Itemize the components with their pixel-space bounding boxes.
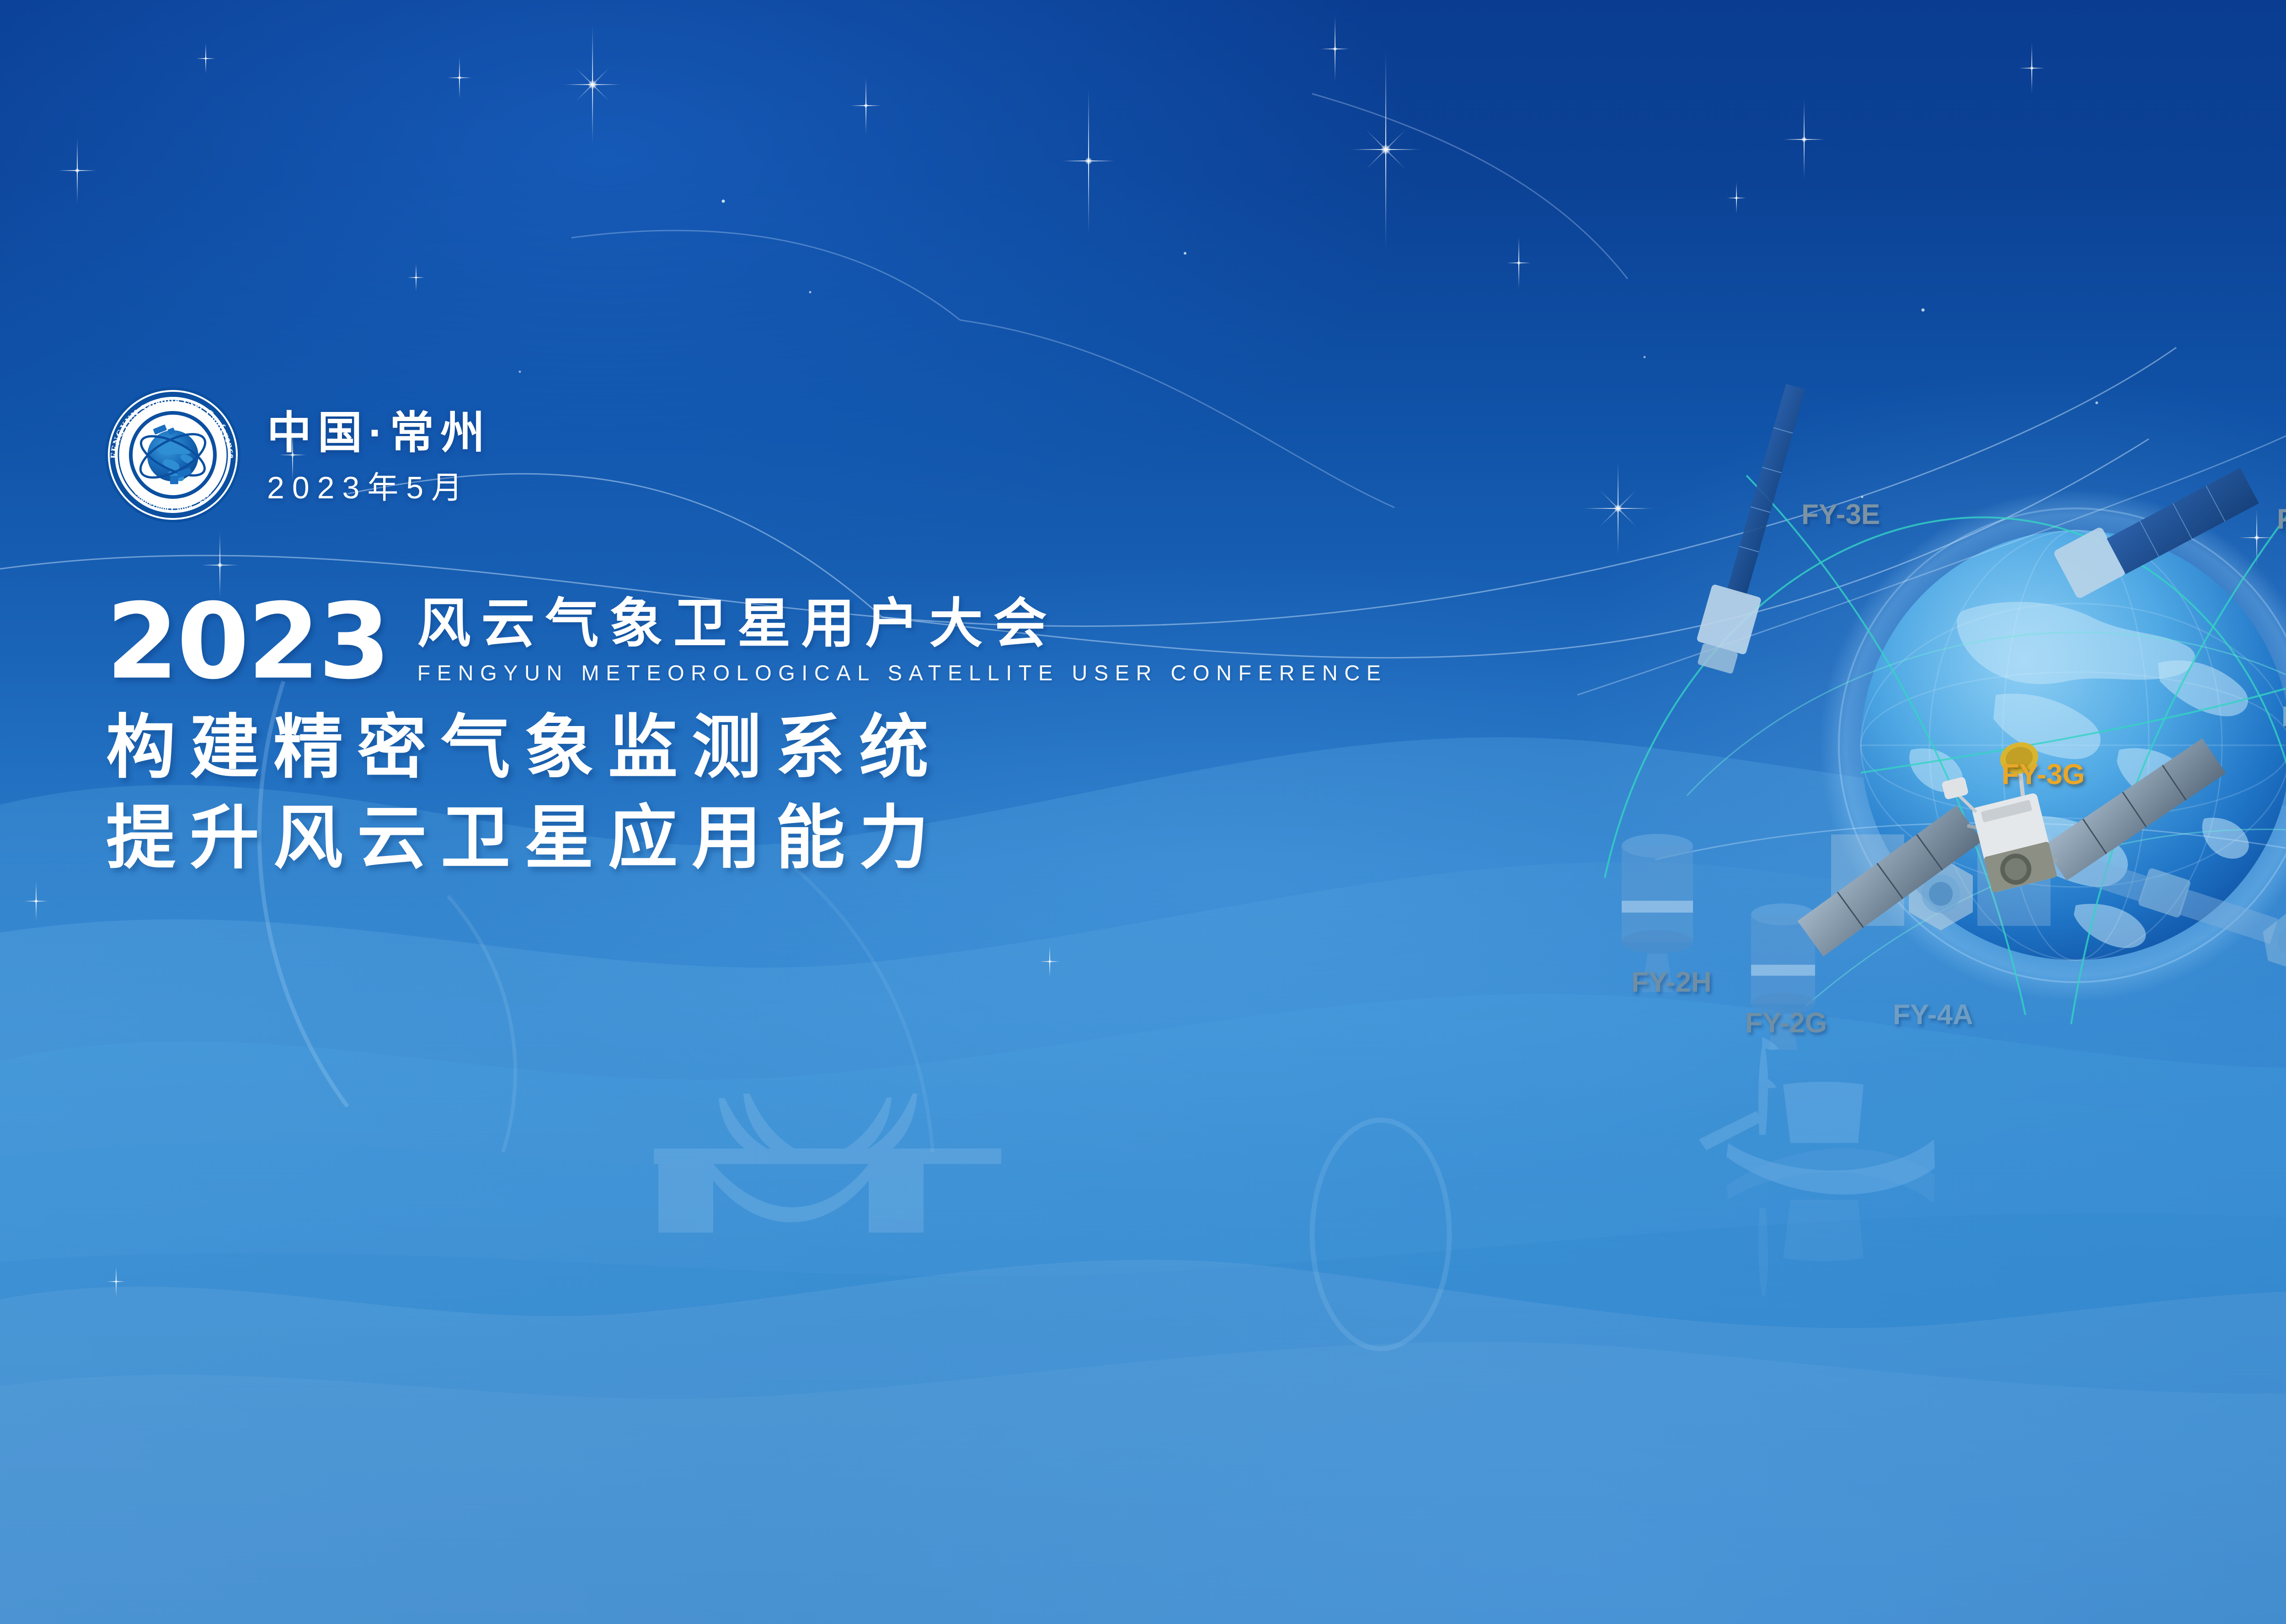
slogan-block: 构建精密气象监测系统 提升风云卫星应用能力 [106,703,1387,883]
conference-name-cn: 风云气象卫星用户大会 [417,597,1388,650]
star-dot [1184,252,1186,255]
satellite-fy-2h [1622,834,1693,992]
globe-satellite-scene [1550,347,2286,1170]
poster-header: FENGYUN Satellite User Conference Changz… [104,386,491,524]
conference-name-block: 风云气象卫星用户大会 FENGYUN METEOROLOGICAL SATELL… [417,597,1388,686]
star-dot [519,371,521,373]
conference-name-en: FENGYUN METEOROLOGICAL SATELLITE USER CO… [417,662,1388,684]
title-row-primary: 2023 风云气象卫星用户大会 FENGYUN METEOROLOGICAL S… [106,597,1387,686]
event-city: 中国·常州 [267,410,491,456]
star-dot [721,200,725,203]
title-block: 2023 风云气象卫星用户大会 FENGYUN METEOROLOGICAL S… [106,597,1387,883]
conference-poster: FY-3E FY-3C FY-3D FY-3G FY-2H FY-2G FY-4… [0,0,2286,1624]
conference-year: 2023 [106,597,389,686]
event-place-block: 中国·常州 2023年5月 [267,405,491,504]
slogan-line-1: 构建精密气象监测系统 [106,703,1387,793]
conference-logo: FENGYUN Satellite User Conference Changz… [104,386,241,524]
satellite-fy-3e [1690,379,1821,676]
background-glow-bottom [726,1169,2286,1624]
star-dot [1921,309,1924,312]
slogan-line-2: 提升风云卫星应用能力 [106,793,1387,884]
star-dot [809,291,812,294]
event-date: 2023年5月 [267,472,491,504]
bridge-silhouette-icon [654,1094,1001,1233]
